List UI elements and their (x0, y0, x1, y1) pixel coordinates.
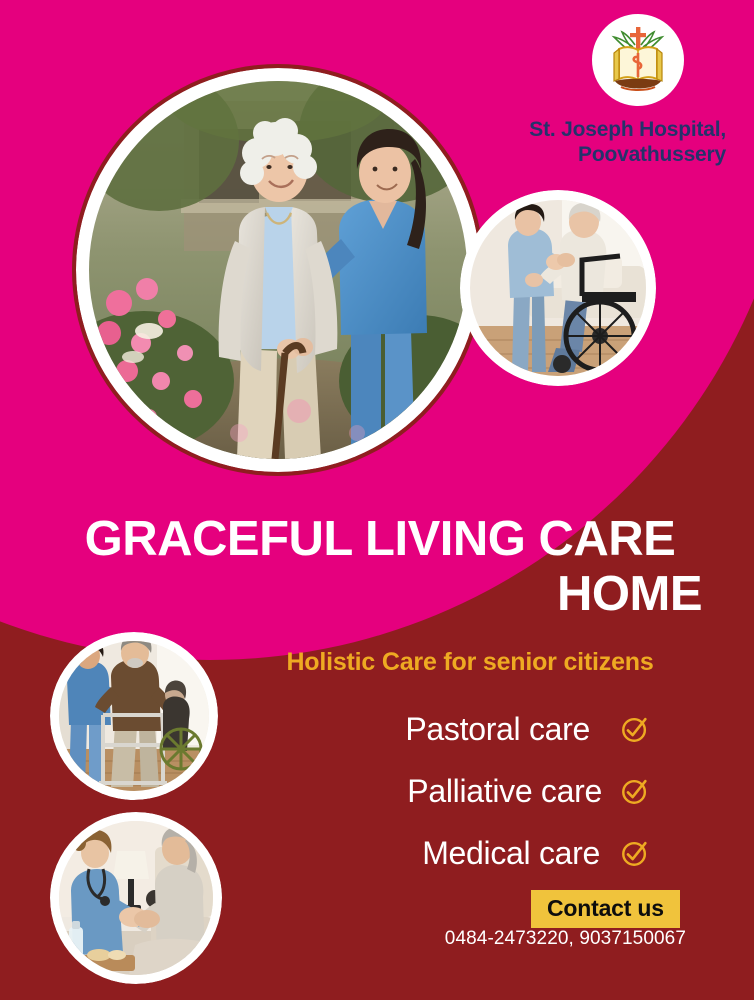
hospital-name-line2: Poovathussery (578, 143, 726, 166)
service-label: Palliative care (407, 773, 602, 810)
photo-nurse-holding-hands-bedside (50, 812, 222, 984)
photo-image (59, 821, 213, 975)
check-circle-icon (620, 838, 650, 868)
contact-phone-numbers[interactable]: 0484-2473220, 9037150067 (445, 928, 686, 950)
page-title-line1: GRACEFUL LIVING CARE (85, 512, 676, 566)
hospital-name: St. Joseph Hospital, Poovathussery (396, 118, 726, 168)
service-item-pastoral-care: Pastoral care (250, 698, 650, 760)
service-item-medical-care: Medical care (250, 822, 650, 884)
service-item-palliative-care: Palliative care (250, 760, 650, 822)
photo-image (59, 641, 209, 791)
contact-us-button[interactable]: Contact us (531, 890, 680, 928)
service-label: Medical care (422, 835, 600, 872)
check-circle-icon (620, 776, 650, 806)
photo-caregiver-assisting-wheelchair-man (460, 190, 656, 386)
hospital-crest-logo (592, 14, 684, 106)
hospital-name-line1: St. Joseph Hospital, (529, 118, 726, 141)
services-list: Pastoral care Palliative care Medical ca… (250, 698, 650, 884)
photo-nurse-with-walker-patient (50, 632, 218, 800)
poster-canvas: St. Joseph Hospital, Poovathussery (0, 0, 754, 1000)
page-subtitle: Holistic Care for senior citizens (220, 648, 720, 677)
page-title-line2: HOME (40, 567, 720, 622)
photo-image (470, 200, 646, 376)
service-label: Pastoral care (405, 711, 590, 748)
page-title: GRACEFUL LIVING CARE HOME (40, 512, 720, 622)
check-circle-icon (620, 714, 650, 744)
